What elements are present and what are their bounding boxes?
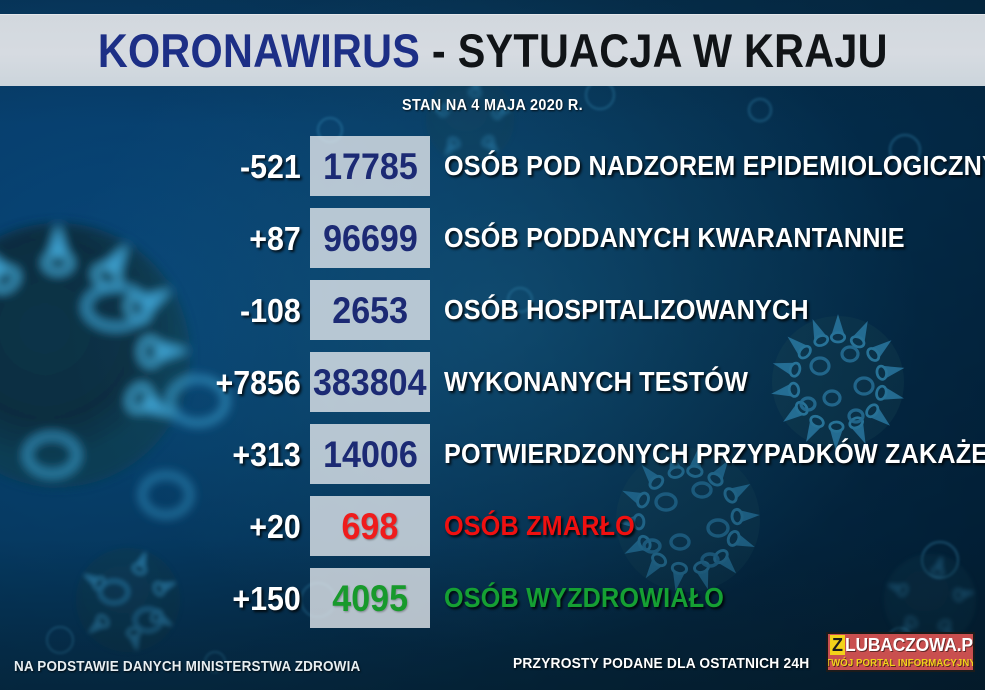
logo-tagline: TWÓJ PORTAL INFORMACYJNY (826, 658, 975, 669)
site-logo[interactable]: ZLUBACZOWA.PL TWÓJ PORTAL INFORMACYJNY (826, 632, 975, 672)
stat-delta: -108 (71, 294, 310, 327)
stat-label: OSÓB PODDANYCH KWARANTANNIE (444, 224, 905, 252)
stat-delta: +7856 (71, 366, 310, 399)
stat-row: -108 2653 OSÓB HOSPITALIZOWANYCH (0, 274, 985, 346)
stat-row-recovered: +150 4095 OSÓB WYZDROWIAŁO (0, 562, 985, 634)
stat-delta: +313 (71, 438, 310, 471)
stat-value: 96699 (323, 220, 418, 257)
stat-row: +313 14006 POTWIERDZONYCH PRZYPADKÓW ZAK… (0, 418, 985, 490)
stat-value-box: 17785 (310, 136, 430, 196)
logo-tagline-bar: TWÓJ PORTAL INFORMACYJNY (828, 656, 973, 670)
date-line: STAN NA 4 MAJA 2020 R. (49, 97, 936, 115)
coronavirus-infographic: KORONAWIRUS - SYTUACJA W KRAJU STAN NA 4… (0, 0, 985, 690)
logo-initial: Z (830, 635, 845, 655)
stat-delta: +87 (71, 222, 310, 255)
stat-row: +7856 383804 WYKONANYCH TESTÓW (0, 346, 985, 418)
stat-value-box: 698 (310, 496, 430, 556)
stat-label: POTWIERDZONYCH PRZYPADKÓW ZAKAŻENIA (444, 440, 985, 468)
stats-list: -521 17785 OSÓB POD NADZOREM EPIDEMIOLOG… (0, 130, 985, 634)
stat-value: 698 (342, 508, 399, 545)
stat-value-box: 14006 (310, 424, 430, 484)
stat-delta: +150 (71, 582, 310, 615)
stat-value-box: 383804 (310, 352, 430, 412)
stat-value-box: 96699 (310, 208, 430, 268)
stat-value: 2653 (332, 292, 408, 329)
stat-row: +87 96699 OSÓB PODDANYCH KWARANTANNIE (0, 202, 985, 274)
logo-wordmark: ZLUBACZOWA.PL (828, 634, 973, 656)
header-banner: KORONAWIRUS - SYTUACJA W KRAJU (0, 14, 985, 86)
stat-label: OSÓB WYZDROWIAŁO (444, 584, 724, 612)
stat-delta: -521 (71, 150, 310, 183)
stat-value-box: 2653 (310, 280, 430, 340)
stat-label: OSÓB HOSPITALIZOWANYCH (444, 296, 809, 324)
stat-value: 383804 (313, 364, 427, 401)
period-note: PRZYROSTY PODANE DLA OSTATNICH 24H (513, 655, 809, 672)
stat-delta: +20 (71, 510, 310, 543)
page-title-rest: - SYTUACJA W KRAJU (420, 24, 888, 77)
page-title: KORONAWIRUS - SYTUACJA W KRAJU (98, 27, 888, 74)
stat-value: 14006 (323, 436, 418, 473)
page-title-highlight: KORONAWIRUS (98, 24, 420, 77)
stat-row: -521 17785 OSÓB POD NADZOREM EPIDEMIOLOG… (0, 130, 985, 202)
logo-domain: LUBACZOWA.PL (845, 635, 975, 655)
stat-label: OSÓB ZMARŁO (444, 512, 635, 540)
stat-value-box: 4095 (310, 568, 430, 628)
stat-label: OSÓB POD NADZOREM EPIDEMIOLOGICZNYM (444, 152, 985, 180)
stat-label: WYKONANYCH TESTÓW (444, 368, 748, 396)
source-note: NA PODSTAWIE DANYCH MINISTERSTWA ZDROWIA (14, 658, 360, 675)
stat-row-deaths: +20 698 OSÓB ZMARŁO (0, 490, 985, 562)
stat-value: 17785 (323, 148, 418, 185)
stat-value: 4095 (332, 580, 408, 617)
